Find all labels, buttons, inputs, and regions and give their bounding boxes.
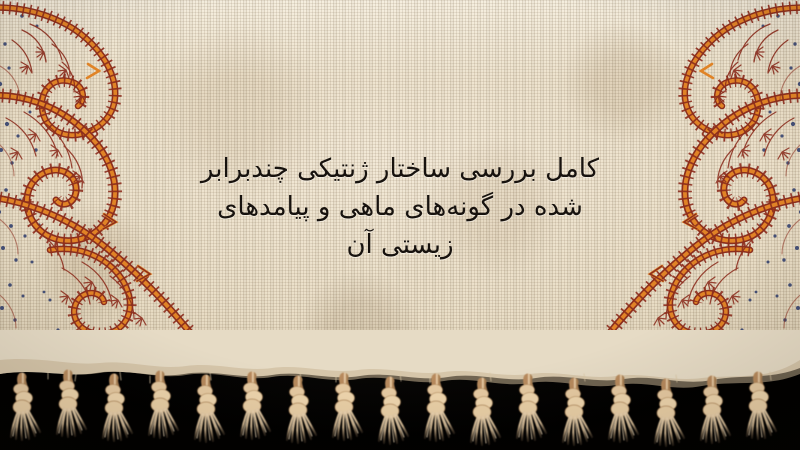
tassel-fringe	[0, 330, 800, 450]
title-line-2: شده در گونه‌های ماهی و پیامدهای	[180, 188, 620, 226]
title-line-3: زیستی آن	[180, 226, 620, 264]
title-line-1: کامل بررسی ساختار ژنتیکی چندبرابر	[180, 150, 620, 188]
tassel-row	[11, 374, 776, 446]
slide-canvas: کامل بررسی ساختار ژنتیکی چندبرابر شده در…	[0, 0, 800, 450]
slide-title: کامل بررسی ساختار ژنتیکی چندبرابر شده در…	[180, 150, 620, 264]
